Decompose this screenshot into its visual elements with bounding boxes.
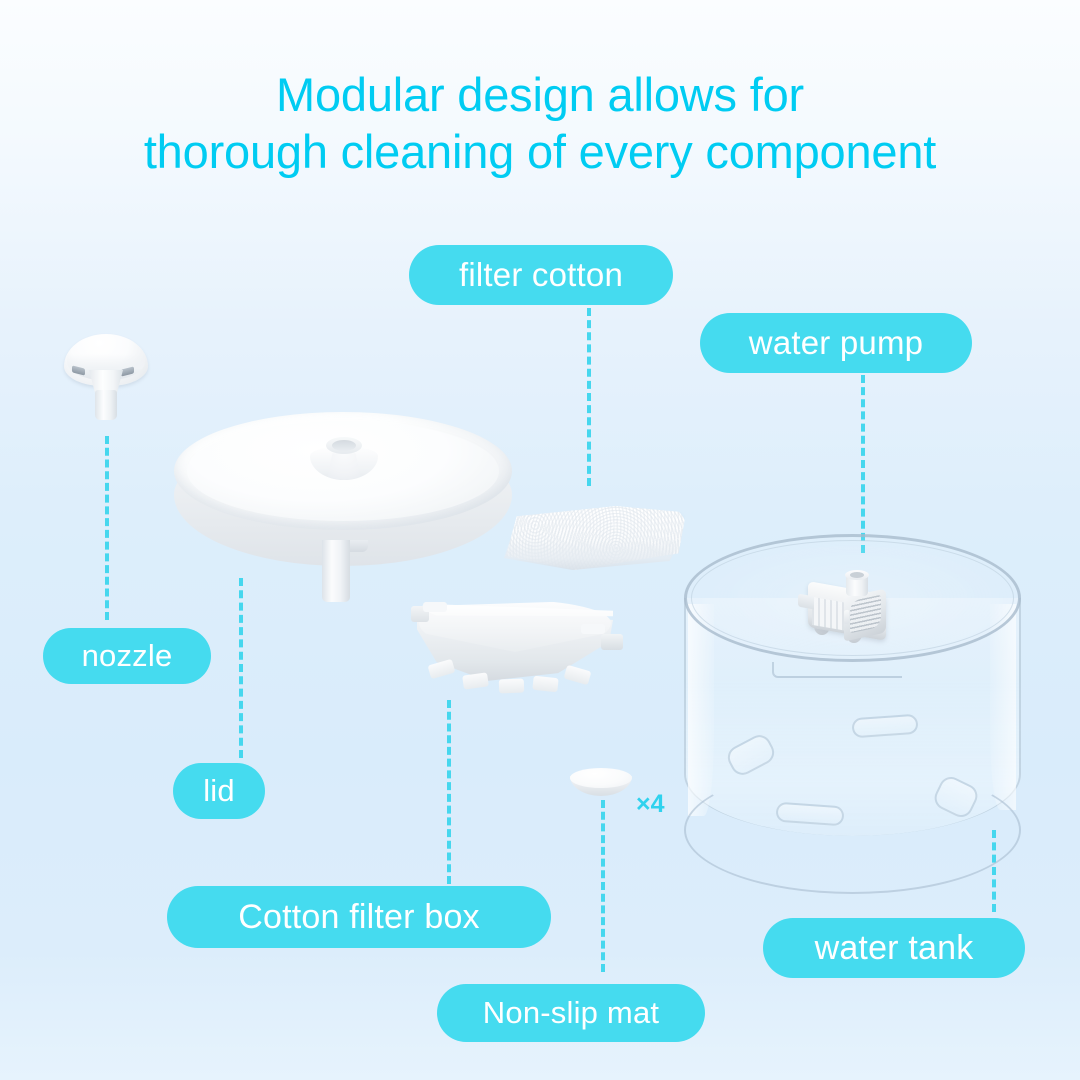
water-tank-notch bbox=[772, 662, 902, 678]
product-exploded-diagram: Modular design allows for thorough clean… bbox=[0, 0, 1080, 1080]
water-pump-outlet-hole bbox=[850, 572, 864, 578]
part-lid bbox=[174, 412, 514, 604]
cotton-filter-box-ear-right bbox=[601, 634, 623, 650]
lid-downtube bbox=[322, 540, 350, 602]
non-slip-mat-top bbox=[570, 768, 632, 788]
cotton-filter-box-slot-3 bbox=[499, 679, 524, 694]
page-title: Modular design allows for thorough clean… bbox=[0, 66, 1080, 180]
cotton-filter-box-slot-2 bbox=[462, 672, 489, 689]
water-pump-latch-tab bbox=[844, 609, 849, 624]
cotton-filter-box-slot-4 bbox=[532, 676, 558, 693]
connector-water-pump bbox=[861, 375, 865, 553]
nozzle-stem bbox=[95, 390, 117, 420]
cotton-filter-box-notch-right bbox=[581, 624, 605, 634]
label-filter-cotton[interactable]: filter cotton bbox=[409, 245, 673, 305]
connector-lid bbox=[239, 578, 243, 758]
connector-nozzle bbox=[105, 436, 109, 620]
lid-tab bbox=[350, 540, 368, 552]
part-cotton-filter-box bbox=[415, 598, 621, 694]
label-nozzle[interactable]: nozzle bbox=[43, 628, 211, 684]
cotton-filter-box-slot-1 bbox=[428, 659, 456, 679]
connector-filter-cotton bbox=[587, 308, 591, 486]
connector-non-slip-mat bbox=[601, 800, 605, 972]
connector-cotton-filter-box bbox=[447, 700, 451, 884]
lid-hub-hole bbox=[332, 440, 356, 451]
label-water-pump[interactable]: water pump bbox=[700, 313, 972, 373]
part-non-slip-mat bbox=[570, 768, 634, 800]
water-tank-highlight-left bbox=[688, 604, 714, 816]
cotton-filter-box-notch-left bbox=[423, 602, 447, 612]
part-nozzle bbox=[64, 334, 150, 424]
water-tank-highlight-right bbox=[990, 604, 1016, 810]
cotton-filter-box-slot-5 bbox=[564, 665, 592, 685]
label-water-tank[interactable]: water tank bbox=[763, 918, 1025, 978]
non-slip-mat-quantity: ×4 bbox=[636, 790, 665, 819]
label-lid[interactable]: lid bbox=[173, 763, 265, 819]
part-water-pump bbox=[798, 570, 894, 646]
label-cotton-filter-box[interactable]: Cotton filter box bbox=[167, 886, 551, 948]
part-filter-cotton bbox=[502, 506, 688, 576]
label-non-slip-mat[interactable]: Non-slip mat bbox=[437, 984, 705, 1042]
filter-cotton-edge bbox=[504, 540, 684, 570]
water-pump-side-port bbox=[798, 594, 814, 610]
